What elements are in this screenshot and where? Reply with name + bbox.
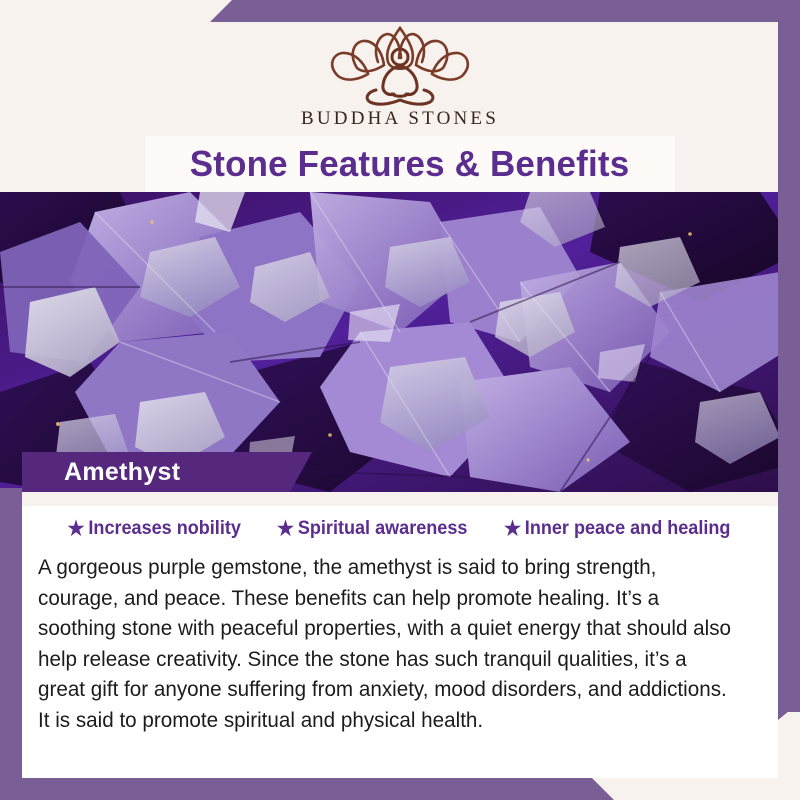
stone-name-banner: Amethyst (22, 452, 312, 492)
stone-description: A gorgeous purple gemstone, the amethyst… (38, 552, 731, 735)
benefit-label: Spiritual awareness (298, 518, 468, 540)
star-icon: ★ (277, 519, 294, 539)
brand-logo: BUDDHA STONES (0, 22, 800, 130)
frame-left-bar (0, 488, 22, 800)
frame-bottom-bar (0, 778, 800, 800)
content-spacer (22, 492, 778, 506)
content-panel: ★ Increases nobility ★ Spiritual awarene… (22, 492, 778, 778)
infographic-card: BUDDHA STONES Stone Features & Benefits … (0, 0, 800, 800)
stone-name: Amethyst (64, 458, 180, 487)
star-icon: ★ (504, 519, 521, 539)
benefit-item: ★ Inner peace and healing (504, 518, 730, 540)
amethyst-photo (0, 192, 800, 492)
brand-name: BUDDHA STONES (0, 108, 800, 130)
lotus-meditation-figure-icon (320, 22, 480, 106)
title-panel: Stone Features & Benefits (145, 136, 675, 192)
star-icon: ★ (68, 519, 85, 539)
benefit-label: Increases nobility (89, 518, 241, 540)
benefits-list: ★ Increases nobility ★ Spiritual awarene… (22, 506, 778, 540)
amethyst-photo-image (0, 192, 800, 492)
benefit-label: Inner peace and healing (525, 518, 731, 540)
frame-right-bar (778, 0, 800, 712)
benefit-item: ★ Increases nobility (68, 518, 241, 540)
benefit-item: ★ Spiritual awareness (277, 518, 467, 540)
page-title: Stone Features & Benefits (190, 143, 630, 185)
